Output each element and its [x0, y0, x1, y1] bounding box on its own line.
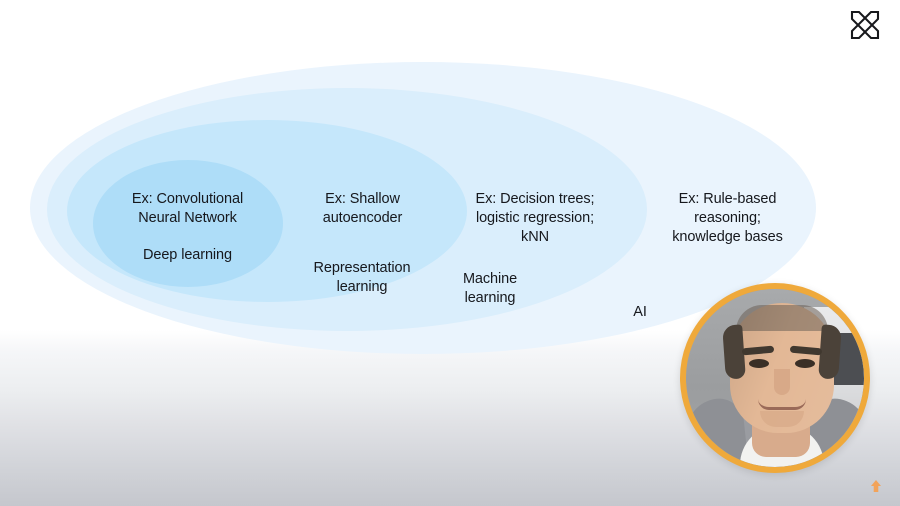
slide-canvas: Ex: Convolutional Neural Network Deep le… [0, 0, 900, 506]
example-label-representation-learning: Ex: Shallow autoencoder [285, 190, 440, 228]
presenter-webcam-video [686, 289, 864, 467]
example-label-machine-learning: Ex: Decision trees; logistic regression;… [445, 190, 625, 247]
ring-label-deep-learning: Deep learning [105, 246, 270, 265]
example-label-ai: Ex: Rule-based reasoning; knowledge base… [630, 190, 825, 247]
presenter-webcam[interactable] [680, 283, 870, 473]
ring-label-ai: AI [590, 303, 690, 322]
up-arrow-badge[interactable] [868, 478, 884, 494]
ring-label-machine-learning: Machine learning [400, 270, 580, 308]
example-label-deep-learning: Ex: Convolutional Neural Network [105, 190, 270, 228]
x-monogram-logo [848, 8, 882, 42]
